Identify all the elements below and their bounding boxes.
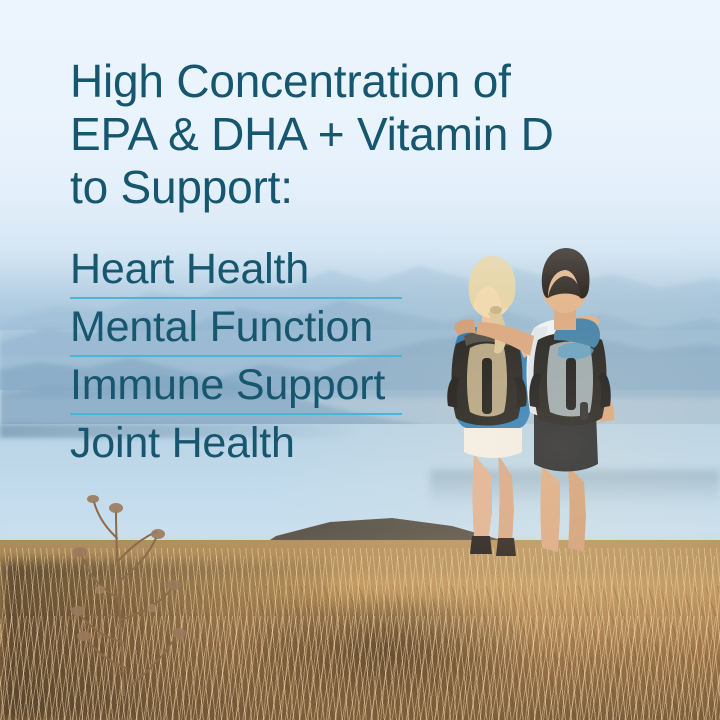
benefit-divider-2	[70, 355, 402, 357]
benefits-list: Heart Health Mental Function Immune Supp…	[70, 243, 470, 469]
benefit-item-immune-support: Immune Support	[70, 359, 470, 411]
benefit-label: Joint Health	[70, 417, 470, 469]
benefit-item-heart-health: Heart Health	[70, 243, 470, 295]
benefit-label: Mental Function	[70, 301, 470, 353]
benefit-divider-1	[70, 297, 402, 299]
benefit-label: Immune Support	[70, 359, 470, 411]
benefit-item-joint-health: Joint Health	[70, 417, 470, 469]
marketing-image: High Concentration of EPA & DHA + Vitami…	[0, 0, 720, 720]
headline: High Concentration of EPA & DHA + Vitami…	[70, 55, 670, 214]
text-overlay: High Concentration of EPA & DHA + Vitami…	[0, 0, 720, 720]
benefit-label: Heart Health	[70, 243, 470, 295]
benefit-item-mental-function: Mental Function	[70, 301, 470, 353]
benefit-divider-3	[70, 413, 402, 415]
